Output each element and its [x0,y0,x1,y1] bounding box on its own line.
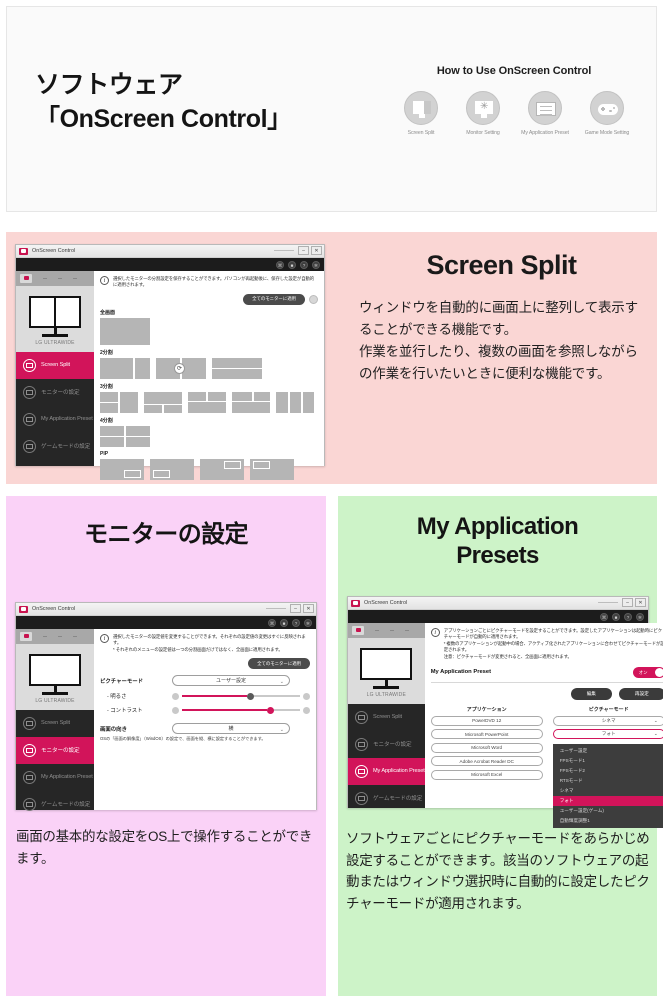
application-pill[interactable]: PowerDVD 12 [431,716,543,726]
chevron-down-icon: ⌄ [654,731,658,737]
picture-mode-select[interactable]: ユーザー設定 ⌄ [172,675,290,686]
picture-mode-label: ピクチャーモード [100,677,172,685]
plus-icon[interactable] [303,707,310,714]
sidebar-monitor-preview: LG ULTRAWIDE [16,644,94,710]
picture-mode-select[interactable]: シネマ ⌄ [553,716,663,726]
sidebar-item-monitor-setting[interactable]: モニターの設定 [348,731,425,758]
monitor-toggle-icon[interactable] [309,295,318,304]
sidebar-item-label: モニターの設定 [41,746,79,754]
game-mode-setting-icon [590,91,624,125]
split-preset-tile[interactable] [232,392,270,413]
picture-mode-column: シネマ ⌄ フォト ⌄ ユーザー設定 FPSモード1 FPSモード2 [553,716,663,784]
sidebar-item-label: Screen Split [41,362,70,368]
hero-icon-row: Screen Split ✳ Monitor Setting My Applic… [389,91,639,136]
screen-split-icon [23,717,36,730]
column-header-picture-mode: ピクチャーモード [553,706,663,713]
split-group-pip: PIP [100,451,318,480]
monitor-icon [360,648,412,680]
chevron-down-icon: ⌄ [654,718,658,724]
screen-split-icon [23,359,36,372]
sidebar-item-game-mode-setting[interactable]: ゲームモードの設定 [16,791,94,818]
split-preset-tile[interactable] [188,392,226,413]
info-text: 選択したモニターの分割設定を保存することができます。パソコンが再起動後に、保存し… [113,276,318,289]
dropdown-option[interactable]: シネマ [553,786,663,796]
my-application-preset-icon [23,771,36,784]
link-icon[interactable]: ⌘ [268,619,276,627]
contrast-row: - コントラスト [100,706,310,714]
window-title: OnScreen Control [364,600,407,606]
tab-dot [73,278,77,279]
sidebar-item-label: モニターの設定 [41,388,79,396]
orientation-row: 画面の向き 横 ⌄ [100,723,310,734]
split-preset-tile[interactable] [150,459,194,480]
app-content-monitor-setting: i 選択したモニターの設定値を変更することができます。それぞれの設定値の変更はす… [94,629,316,810]
sidebar-item-screen-split[interactable]: Screen Split [348,704,425,731]
tab-dot [58,636,62,637]
hero-icon-label: Game Mode Setting [579,130,635,136]
brightness-row: - 明るさ [100,692,310,700]
help-icon[interactable]: ? [624,613,632,621]
slider-track[interactable] [182,695,300,697]
info-icon: i [100,634,109,643]
app-body: LG ULTRAWIDE Screen Split モニターの設定 My App… [348,623,648,808]
chevron-down-icon: ⌄ [280,679,284,685]
preset-column-headers: アプリケーション ピクチャーモード [431,706,663,713]
monitor-tab-logo-icon [20,632,32,641]
preset-rows: PowerDVD 12 Microsoft PowerPoint Microso… [431,716,663,784]
dropdown-option[interactable]: ユーザー設定(ゲーム) [553,806,663,816]
split-group-label: 3分割 [100,383,318,390]
contrast-slider[interactable] [172,707,310,714]
app-topbar: ⌘ ■ ? ✲ [16,258,324,271]
stop-icon[interactable]: ■ [288,261,296,269]
application-pill[interactable]: Microsoft Excel [431,770,543,780]
orientation-value: 横 [228,725,233,732]
close-icon[interactable]: ✕ [311,246,322,255]
sidebar-item-label: ゲームモードの設定 [41,442,90,450]
tab-dot [43,278,47,279]
info-text: 選択したモニターの設定値を変更することができます。それぞれの設定値の変更はすぐに… [113,634,310,653]
window-title: OnScreen Control [32,248,75,254]
window-title: OnScreen Control [32,606,75,612]
info-banner: i 選択したモニターの設定値を変更することができます。それぞれの設定値の変更はす… [100,634,310,653]
game-mode-setting-icon [23,440,36,453]
dropdown-option[interactable]: ユーザー設定 [553,746,663,756]
minimize-icon[interactable]: – [298,246,309,255]
hero-icon-game-mode-setting[interactable]: Game Mode Setting [579,91,635,136]
split-group-label: 2分割 [100,349,318,356]
dropdown-option-selected[interactable]: フォト [553,796,663,806]
tab-dot [375,630,379,631]
edit-button[interactable]: 編集 [571,688,612,700]
column-header-application: アプリケーション [431,706,543,713]
split-group-4: 4分割 [100,417,318,447]
window-controls: – ✕ [266,604,314,613]
dropdown-option[interactable]: FPSモード1 [553,756,663,766]
hero-icon-label: Screen Split [393,130,449,136]
monitor-model-label: LG ULTRAWIDE [16,340,94,346]
tab-dot [73,636,77,637]
hero-icon-screen-split[interactable]: Screen Split [393,91,449,136]
game-mode-setting-icon [355,792,368,805]
preset-toggle[interactable]: オン [633,667,663,678]
dropdown-option[interactable]: FPSモード2 [553,766,663,776]
sidebar-item-my-application-preset[interactable]: My Application Preset [16,764,94,791]
app-body: LG ULTRAWIDE Screen Split モニターの設定 My App… [16,629,316,810]
orientation-select[interactable]: 横 ⌄ [172,723,290,734]
slider-knob[interactable] [247,693,254,700]
dropdown-option[interactable]: 自動輝度調整1 [553,816,663,826]
window-titlebar: OnScreen Control – ✕ [16,245,324,258]
preset-buttons: 編集 再設定 [431,688,663,700]
my-application-presets-heading: My Application Presets [338,496,657,571]
sidebar-item-game-mode-setting[interactable]: ゲームモードの設定 [348,785,425,812]
screen-split-icon [355,711,368,724]
link-icon[interactable]: ⌘ [600,613,608,621]
window-dash [598,602,618,603]
picture-mode-dropdown[interactable]: ユーザー設定 FPSモード1 FPSモード2 RTSモード シネマ フォト ユー… [553,744,663,828]
my-application-preset-icon [528,91,562,125]
help-icon[interactable]: ? [300,261,308,269]
chevron-down-icon: ⌄ [280,727,284,733]
brightness-slider[interactable] [172,693,310,700]
screen-split-icon [404,91,438,125]
sidebar-item-monitor-setting[interactable]: モニターの設定 [16,379,94,406]
info-text: アプリケーションごとにピクチャーモードを設定することができます。設定したアプリケ… [444,628,663,660]
split-preset-tile[interactable] [212,358,262,379]
sidebar-item-label: ゲームモードの設定 [373,794,422,802]
application-pill[interactable]: Microsoft Word [431,743,543,753]
toggle-label: オン [639,670,648,676]
preset-header-row: My Application Preset オン [431,667,663,678]
sidebar-item-monitor-setting[interactable]: モニターの設定 [16,737,94,764]
monitor-setting-icon: ✳ [466,91,500,125]
info-icon: i [100,276,109,285]
monitor-setting-icon [23,744,36,757]
slider-track[interactable] [182,709,300,711]
picture-mode-select-open[interactable]: フォト ⌄ [553,729,663,739]
split-preset-tile[interactable] [276,392,314,413]
screen-split-body: ウィンドウを自動的に画面上に整列して表示することができる機能です。 作業を並行し… [359,297,644,384]
monitor-setting-icon [23,386,36,399]
split-preset-tile[interactable] [200,459,244,480]
game-mode-setting-icon [23,798,36,811]
apply-all-monitors-button[interactable]: 全てのモニターに適用 [248,658,310,669]
tab-dot [390,630,394,631]
osc-window-monitor-setting: OnScreen Control – ✕ ⌘ ■ ? ✲ [15,602,317,810]
hero-howto-block: How to Use OnScreen Control Screen Split… [389,65,639,136]
monitor-tab-logo-icon [352,626,364,635]
brightness-label: - 明るさ [100,692,172,700]
sidebar-item-screen-split[interactable]: Screen Split [16,352,94,379]
link-icon[interactable]: ⌘ [276,261,284,269]
minus-icon[interactable] [172,693,179,700]
sidebar-monitor-tabs[interactable] [16,629,94,644]
split-preset-tile[interactable] [144,392,182,413]
hero-icon-label: My Application Preset [517,130,573,136]
sidebar-item-label: Screen Split [41,720,70,726]
screen-split-heading: Screen Split [359,250,644,281]
orientation-label: 画面の向き [100,725,172,733]
monitor-model-label: LG ULTRAWIDE [16,698,94,704]
apply-row: 全てのモニターに適用 [100,658,310,669]
monitor-model-label: LG ULTRAWIDE [348,692,425,698]
application-pill[interactable]: Microsoft PowerPoint [431,729,543,739]
sidebar-monitor-tabs[interactable] [16,271,94,286]
sidebar-item-my-application-preset[interactable]: My Application Preset [348,758,425,785]
sidebar-item-label: ゲームモードの設定 [41,800,90,808]
my-application-presets-caption: ソフトウェアごとにピクチャーモードをあらかじめ設定することができます。該当のソフ… [346,828,650,914]
section-monitor-setting: モニターの設定 OnScreen Control – ✕ ⌘ ■ ? ✲ [6,496,326,996]
divider [431,682,663,683]
split-preset-tile[interactable] [100,459,144,480]
hero-icon-label: Monitor Setting [455,130,511,136]
sidebar-item-game-mode-setting[interactable]: ゲームモードの設定 [16,433,94,460]
app-topbar: ⌘ ■ ? ✲ [16,616,316,629]
monitor-icon [29,654,81,686]
info-banner: i アプリケーションごとにピクチャーモードを設定することができます。設定したアプ… [431,628,663,660]
page-title: ソフトウェア 「OnScreen Control」 [35,69,292,136]
split-preset-tile-hovered[interactable]: ⟳ [156,358,206,379]
hero-subtitle: How to Use OnScreen Control [389,65,639,77]
apply-all-monitors-button[interactable]: 全てのモニターに適用 [243,294,305,305]
app-content-screen-split: i 選択したモニターの分割設定を保存することができます。パソコンが再起動後に、保… [94,271,324,466]
section-my-application-presets: My Application Presets OnScreen Control … [338,496,657,996]
help-icon[interactable]: ? [292,619,300,627]
sidebar-monitor-tabs[interactable] [348,623,425,638]
slider-knob[interactable] [267,707,274,714]
info-banner: i 選択したモニターの分割設定を保存することができます。パソコンが再起動後に、保… [100,276,318,289]
gear-icon[interactable]: ✲ [304,619,312,627]
minimize-icon[interactable]: – [622,598,633,607]
split-group-label: 全画面 [100,309,318,316]
sidebar-item-label: My Application Preset [41,774,93,780]
split-preset-tile[interactable] [250,459,294,480]
split-preset-tile[interactable] [100,318,150,345]
contrast-label: - コントラスト [100,706,172,714]
sidebar-item-screen-split[interactable]: Screen Split [16,710,94,737]
sidebar-item-label: My Application Preset [373,768,425,774]
monitor-setting-caption: 画面の基本的な設定をOS上で操作することができます。 [16,826,316,869]
gear-icon[interactable]: ✲ [636,613,644,621]
plus-icon[interactable] [303,693,310,700]
split-group-label: PIP [100,451,318,457]
lg-logo-icon [19,248,28,255]
my-application-preset-icon [23,413,36,426]
sidebar-monitor-preview: LG ULTRAWIDE [348,638,425,704]
window-controls: – ✕ [598,598,646,607]
app-body: LG ULTRAWIDE Screen Split モニターの設定 My App… [16,271,324,466]
app-sidebar: LG ULTRAWIDE Screen Split モニターの設定 My App… [348,623,425,808]
split-preset-tile[interactable] [100,392,138,413]
picture-mode-value: シネマ [602,718,616,724]
screen-split-copy: Screen Split ウィンドウを自動的に画面上に整列して表示することができ… [359,250,644,384]
minimize-icon[interactable]: – [290,604,301,613]
monitor-icon [29,296,81,328]
section-screen-split: OnScreen Control – ✕ ⌘ ■ ? ✲ [6,232,657,484]
split-group-2: 2分割 ⟳ [100,349,318,379]
osc-window-my-application-preset: OnScreen Control – ✕ ⌘ ■ ? ✲ [347,596,649,808]
window-titlebar: OnScreen Control – ✕ [348,597,648,610]
window-dash [274,250,294,251]
close-icon[interactable]: ✕ [303,604,314,613]
sidebar-monitor-preview: LG ULTRAWIDE [16,286,94,352]
preset-title: My Application Preset [431,669,491,675]
stop-icon[interactable]: ■ [612,613,620,621]
reset-button[interactable]: 再設定 [619,688,663,700]
monitor-tab-logo-icon [20,274,32,283]
orientation-note: OSの「画面の解像度」（WindOS）の設定で、画面を縦、横に設定することができ… [100,736,310,742]
hero-icon-monitor-setting[interactable]: ✳ Monitor Setting [455,91,511,136]
app-sidebar: LG ULTRAWIDE Screen Split モニターの設定 My App… [16,271,94,466]
osc-window-screen-split: OnScreen Control – ✕ ⌘ ■ ? ✲ [15,244,325,466]
app-sidebar: LG ULTRAWIDE Screen Split モニターの設定 My App… [16,629,94,810]
window-titlebar: OnScreen Control – ✕ [16,603,316,616]
tab-dot [405,630,409,631]
apply-row: 全てのモニターに適用 [100,294,318,305]
sidebar-item-label: My Application Preset [41,416,93,422]
info-icon: i [431,628,440,637]
tab-dot [43,636,47,637]
my-application-preset-icon [355,765,368,778]
poster-root: ソフトウェア 「OnScreen Control」 How to Use OnS… [0,0,663,1000]
window-dash [266,608,286,609]
application-pill[interactable]: Adobe Acrobat Reader DC [431,756,543,766]
monitor-setting-heading: モニターの設定 [6,496,326,549]
sidebar-item-label: モニターの設定 [373,740,411,748]
split-preset-tile[interactable] [100,426,150,447]
lg-logo-icon [351,600,360,607]
application-column: PowerDVD 12 Microsoft PowerPoint Microso… [431,716,543,784]
picture-mode-value: ユーザー設定 [216,677,246,684]
tab-dot [58,278,62,279]
split-group-3: 3分割 [100,383,318,413]
dropdown-option[interactable]: RTSモード [553,776,663,786]
minus-icon[interactable] [172,707,179,714]
split-group-fullscreen: 全画面 [100,309,318,345]
lg-logo-icon [19,606,28,613]
picture-mode-value: フォト [602,731,616,737]
sidebar-item-label: Screen Split [373,714,402,720]
app-content-my-application-preset: i アプリケーションごとにピクチャーモードを設定することができます。設定したアプ… [425,623,663,808]
split-preset-tile[interactable] [100,358,150,379]
split-group-label: 4分割 [100,417,318,424]
hero-section: ソフトウェア 「OnScreen Control」 How to Use OnS… [6,6,657,212]
hero-icon-my-application-preset[interactable]: My Application Preset [517,91,573,136]
monitor-setting-icon [355,738,368,751]
stop-icon[interactable]: ■ [280,619,288,627]
close-icon[interactable]: ✕ [635,598,646,607]
window-controls: – ✕ [274,246,322,255]
picture-mode-row: ピクチャーモード ユーザー設定 ⌄ [100,675,310,686]
gear-icon[interactable]: ✲ [312,261,320,269]
app-topbar: ⌘ ■ ? ✲ [348,610,648,623]
sidebar-item-my-application-preset[interactable]: My Application Preset [16,406,94,433]
